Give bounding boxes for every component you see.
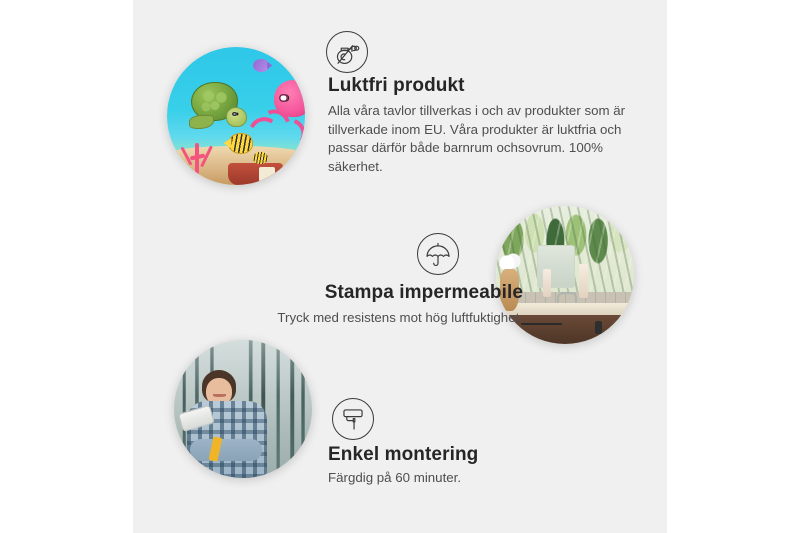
yellow-striped-fish-icon — [228, 133, 253, 154]
turtle-flipper — [189, 115, 214, 129]
feature-title: Stampa impermeabile — [193, 282, 523, 304]
coral-illustration — [178, 130, 219, 174]
forest-background — [174, 340, 312, 478]
turtle-head — [226, 107, 247, 127]
feature-text-easy-installation: Enkel montering Färgdig på 60 minuter. — [328, 444, 598, 488]
feature-block-easy-installation: Enkel montering Färgdig på 60 minuter. — [133, 332, 667, 497]
sea-turtle-illustration — [186, 77, 249, 129]
feature-title: Enkel montering — [328, 444, 598, 466]
underwater-cartoon-mural-photo — [167, 47, 305, 185]
no-odour-perfume-bottle-icon — [326, 31, 368, 73]
feature-block-waterproof-print: Stampa impermeabile Tryck med resistens … — [133, 198, 667, 348]
feature-title: Luktfri produkt — [328, 75, 628, 97]
woman-arms — [190, 439, 262, 461]
feature-text-waterproof-print: Stampa impermeabile Tryck med resistens … — [193, 282, 523, 328]
cabinet-handle — [526, 324, 559, 326]
umbrella-icon — [417, 233, 459, 275]
feature-description: Färgdig på 60 minuter. — [328, 469, 598, 488]
octopus-body — [274, 80, 305, 117]
feature-block-odour-free: Luktfri produkt Alla våra tavlor tillver… — [133, 22, 667, 200]
purple-fish-icon — [253, 59, 270, 71]
toiletry-bottle — [579, 264, 589, 299]
sea-background — [167, 47, 305, 185]
woman-with-wallpaper-forest-photo — [174, 340, 312, 478]
woman-illustration — [185, 370, 271, 478]
sunken-ship — [228, 163, 283, 185]
toiletry-bottle — [543, 269, 551, 297]
octopus-illustration — [255, 80, 305, 152]
feature-text-odour-free: Luktfri produkt Alla våra tavlor tillver… — [328, 75, 628, 176]
feature-description: Tryck med resistens mot hög luftfuktighe… — [193, 309, 523, 328]
feature-description: Alla våra tavlor tillverkas i och av pro… — [328, 102, 628, 176]
paint-roller-icon — [332, 398, 374, 440]
yellow-striped-fish-icon — [253, 152, 268, 164]
screenshot-stage: Luktfri produkt Alla våra tavlor tillver… — [0, 0, 800, 533]
